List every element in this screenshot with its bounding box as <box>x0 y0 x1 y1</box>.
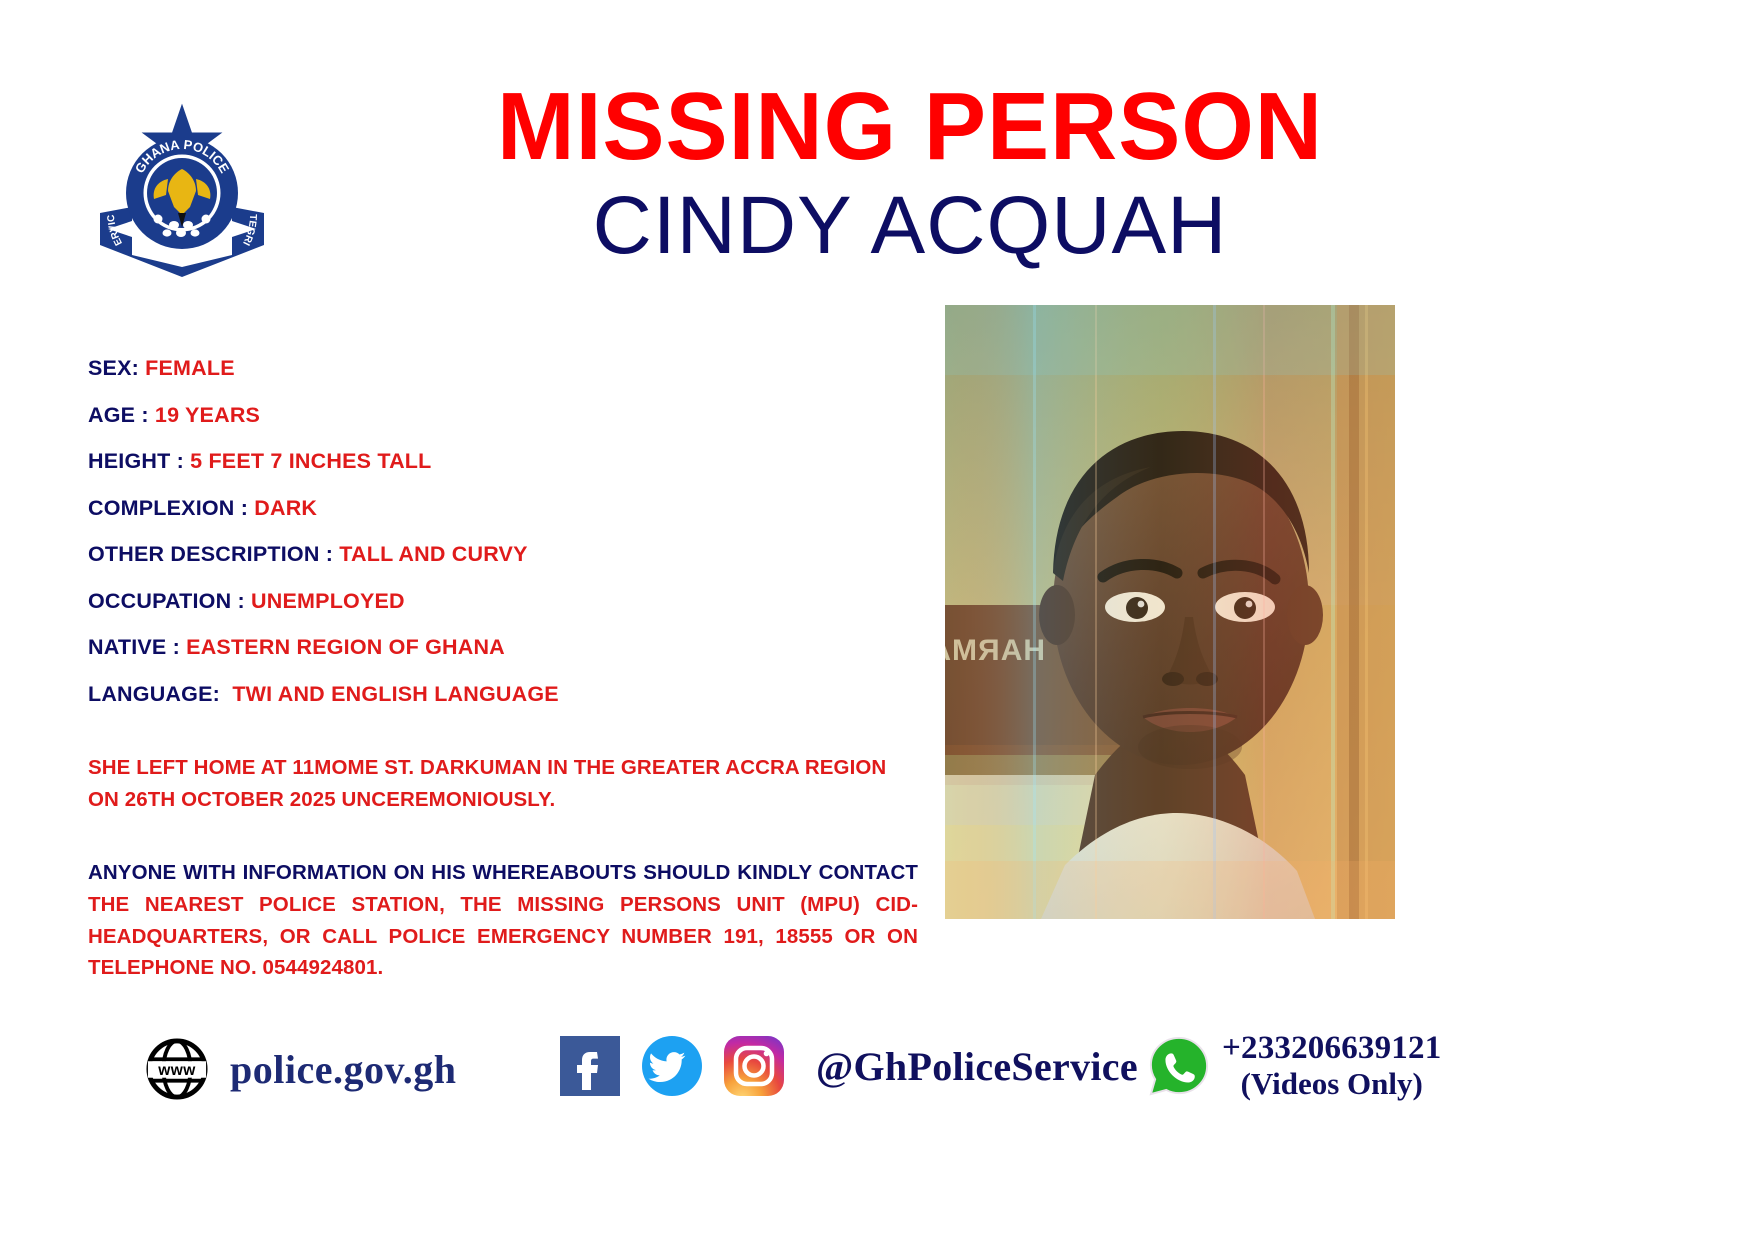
police-badge-icon: GHANA POLICE SERVICE WITH INTEGRITY <box>92 95 272 285</box>
detail-row-language: LANGUAGE: TWI AND ENGLISH LANGUAGE <box>88 682 918 707</box>
social-links-group: @GhPoliceService <box>560 1036 1138 1096</box>
poster-title-block: MISSING PERSON CINDY ACQUAH <box>320 78 1500 270</box>
whatsapp-text-block: +233206639121 (Videos Only) <box>1222 1030 1441 1102</box>
appeal-contacts-text: THE NEAREST POLICE STATION, THE MISSING … <box>88 893 918 980</box>
detail-value-other-description: TALL AND CURVY <box>333 542 528 566</box>
detail-row-height: HEIGHT : 5 FEET 7 INCHES TALL <box>88 449 918 474</box>
globe-www-icon: www <box>146 1038 208 1100</box>
svg-text:www: www <box>157 1062 196 1079</box>
detail-value-height: 5 FEET 7 INCHES TALL <box>184 449 432 473</box>
detail-label-native: NATIVE : <box>88 635 180 659</box>
detail-label-height: HEIGHT : <box>88 449 184 473</box>
facebook-icon[interactable] <box>560 1036 620 1096</box>
photo-graphic: HARMACY <box>945 305 1395 919</box>
detail-row-other-description: OTHER DESCRIPTION : TALL AND CURVY <box>88 542 918 567</box>
detail-label-complexion: COMPLEXION : <box>88 496 248 520</box>
missing-person-name: CINDY ACQUAH <box>320 182 1500 271</box>
page-title-missing-person: MISSING PERSON <box>338 78 1483 176</box>
detail-label-language: LANGUAGE: <box>88 682 220 706</box>
detail-label-occupation: OCCUPATION : <box>88 589 245 613</box>
detail-label-other-description: OTHER DESCRIPTION : <box>88 542 333 566</box>
detail-row-age: AGE : 19 YEARS <box>88 403 918 428</box>
instagram-icon[interactable] <box>724 1036 784 1096</box>
detail-row-native: NATIVE : EASTERN REGION OF GHANA <box>88 635 918 660</box>
website-url-text: police.gov.gh <box>230 1046 457 1093</box>
appeal-paragraph: ANYONE WITH INFORMATION ON HIS WHEREABOU… <box>88 857 918 984</box>
detail-value-occupation: UNEMPLOYED <box>245 589 405 613</box>
ghana-police-crest-logo: GHANA POLICE SERVICE WITH INTEGRITY <box>92 95 272 285</box>
detail-row-complexion: COMPLEXION : DARK <box>88 496 918 521</box>
detail-value-native: EASTERN REGION OF GHANA <box>180 635 505 659</box>
detail-label-sex: SEX: <box>88 356 139 380</box>
social-handle-text: @GhPoliceService <box>816 1043 1138 1090</box>
missing-person-poster: GHANA POLICE SERVICE WITH INTEGRITY <box>0 0 1754 1240</box>
detail-label-age: AGE : <box>88 403 149 427</box>
circumstances-paragraph: SHE LEFT HOME AT 11MOME ST. DARKUMAN IN … <box>88 752 918 816</box>
detail-value-age: 19 YEARS <box>149 403 260 427</box>
detail-value-sex: FEMALE <box>139 356 235 380</box>
person-details-list: SEX: FEMALE AGE : 19 YEARS HEIGHT : 5 FE… <box>88 356 918 728</box>
whatsapp-contact[interactable]: +233206639121 (Videos Only) <box>1148 1030 1441 1102</box>
missing-person-photo: HARMACY <box>945 305 1395 919</box>
twitter-icon[interactable] <box>642 1036 702 1096</box>
detail-row-sex: SEX: FEMALE <box>88 356 918 381</box>
detail-row-occupation: OCCUPATION : UNEMPLOYED <box>88 589 918 614</box>
website-link[interactable]: www police.gov.gh <box>146 1038 457 1100</box>
whatsapp-icon <box>1148 1035 1210 1097</box>
detail-value-language: TWI AND ENGLISH LANGUAGE <box>220 682 559 706</box>
whatsapp-note-text: (Videos Only) <box>1222 1067 1441 1102</box>
detail-value-complexion: DARK <box>248 496 317 520</box>
whatsapp-number-text: +233206639121 <box>1222 1030 1441 1067</box>
appeal-lead-text: ANYONE WITH INFORMATION ON HIS WHEREABOU… <box>88 861 918 884</box>
crest-ribbon-bottom-text: WITH <box>169 275 195 285</box>
footer-contact-bar: www police.gov.gh <box>0 1022 1754 1142</box>
